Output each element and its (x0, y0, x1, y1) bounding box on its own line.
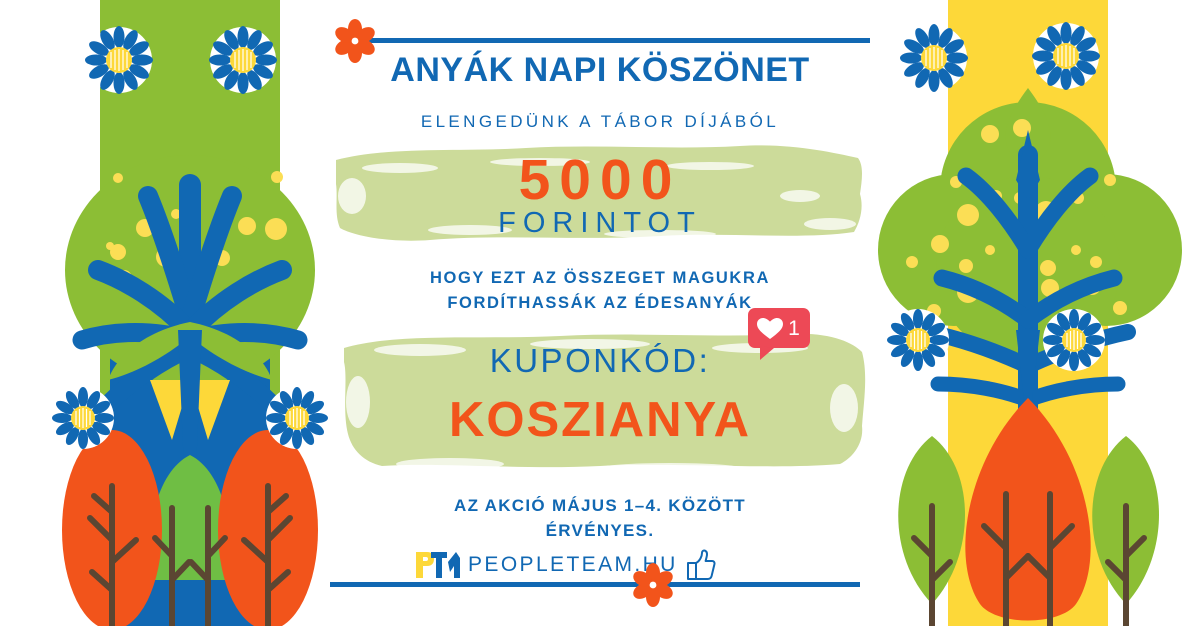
validity-note: AZ AKCIÓ MÁJUS 1–4. KÖZÖTT ÉRVÉNYES. (330, 494, 870, 543)
like-badge: 1 (748, 308, 810, 360)
badge-pointer (760, 346, 774, 360)
right-decoration (870, 0, 1200, 626)
page-title: ANYÁK NAPI KÖSZÖNET (330, 52, 870, 89)
poster-canvas: ANYÁK NAPI KÖSZÖNET ELENGEDÜNK A TÁBOR D… (0, 0, 1200, 626)
validity-line1: AZ AKCIÓ MÁJUS 1–4. KÖZÖTT (330, 494, 870, 519)
left-decoration (0, 0, 330, 626)
validity-line2: ÉRVÉNYES. (330, 519, 870, 544)
discount-amount: 5000 (330, 152, 870, 209)
offer-description-line1: HOGY EZT AZ ÖSSZEGET MAGUKRA (330, 266, 870, 291)
flower-icon (630, 562, 676, 608)
coupon-code[interactable]: KOSZIANYA (330, 396, 870, 445)
bottom-divider-line (330, 582, 860, 587)
discount-currency: FORINTOT (330, 209, 870, 238)
offer-subtitle: ELENGEDÜNK A TÁBOR DÍJÁBÓL (330, 112, 870, 132)
bottom-divider (330, 562, 870, 608)
like-count: 1 (788, 317, 800, 340)
top-divider-line (362, 38, 870, 43)
center-content: ANYÁK NAPI KÖSZÖNET ELENGEDÜNK A TÁBOR D… (330, 0, 870, 626)
